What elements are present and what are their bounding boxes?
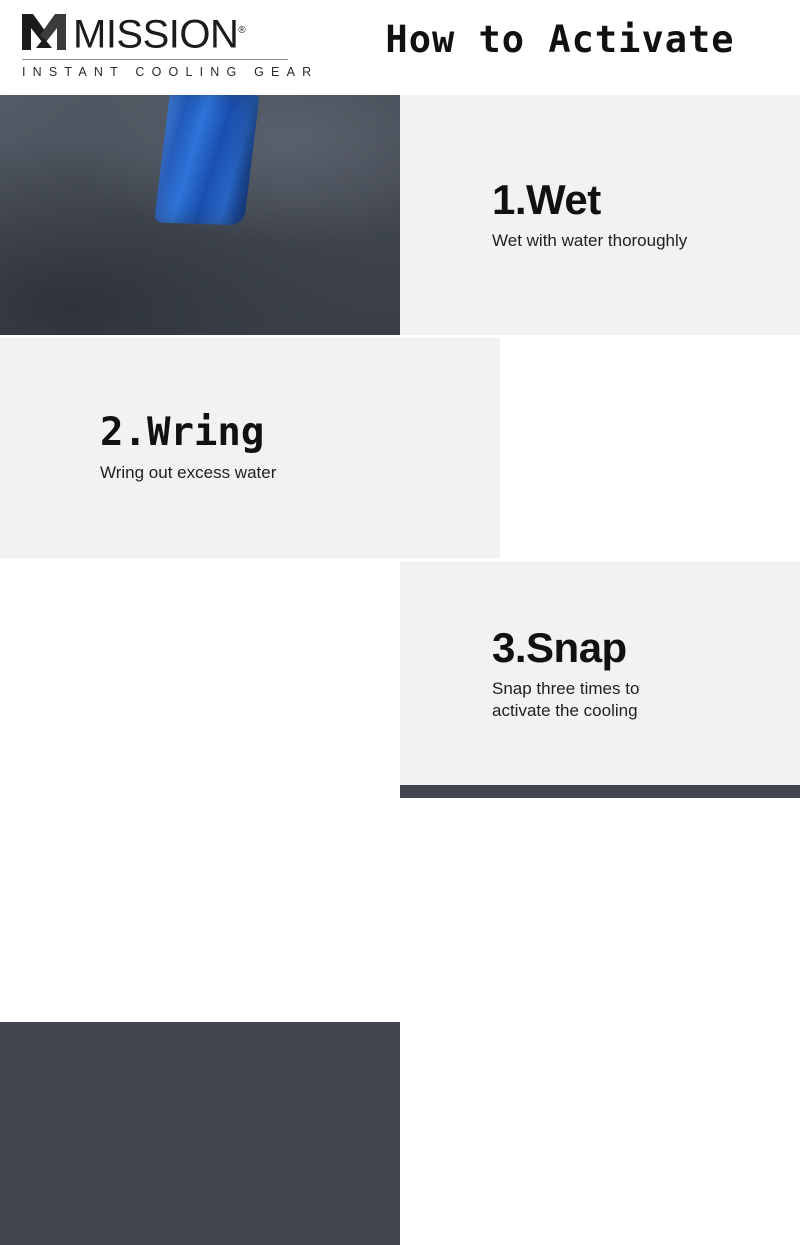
brand-logo: MISSION® INSTANT COOLING GEAR: [22, 14, 290, 79]
step-2-heading: 2.Wring: [100, 413, 264, 454]
brand-wordmark: MISSION®: [73, 13, 246, 52]
photo-backdrop: [0, 1022, 400, 1245]
step-2-text-panel: 2.Wring Wring out excess water: [0, 338, 500, 558]
logo-divider: [22, 59, 288, 60]
step-3-text-panel: 3.Snap Snap three times to activate the …: [400, 562, 800, 785]
logo-row: MISSION®: [22, 14, 290, 56]
trademark-symbol: ®: [238, 25, 245, 36]
mission-m-icon: [22, 14, 66, 50]
header: MISSION® INSTANT COOLING GEAR How to Act…: [0, 0, 800, 95]
step-3-heading: 3.Snap: [492, 626, 627, 670]
brand-tagline: INSTANT COOLING GEAR: [22, 65, 290, 79]
step-1-photo: [0, 95, 400, 335]
page-title: How to Activate: [340, 18, 780, 61]
step-1-text-panel: 1.Wet Wet with water thoroughly: [400, 95, 800, 335]
step-3-photo: [0, 1022, 400, 1245]
step-3-subtitle: Snap three times to activate the cooling: [492, 678, 639, 722]
infographic-poster: MISSION® INSTANT COOLING GEAR How to Act…: [0, 0, 800, 800]
step-1-heading: 1.Wet: [492, 178, 601, 222]
step-1-subtitle: Wet with water thoroughly: [492, 230, 687, 252]
brand-name-text: MISSION: [73, 12, 238, 56]
step-2-subtitle: Wring out excess water: [100, 462, 276, 484]
towel-body-fold: [224, 95, 296, 208]
